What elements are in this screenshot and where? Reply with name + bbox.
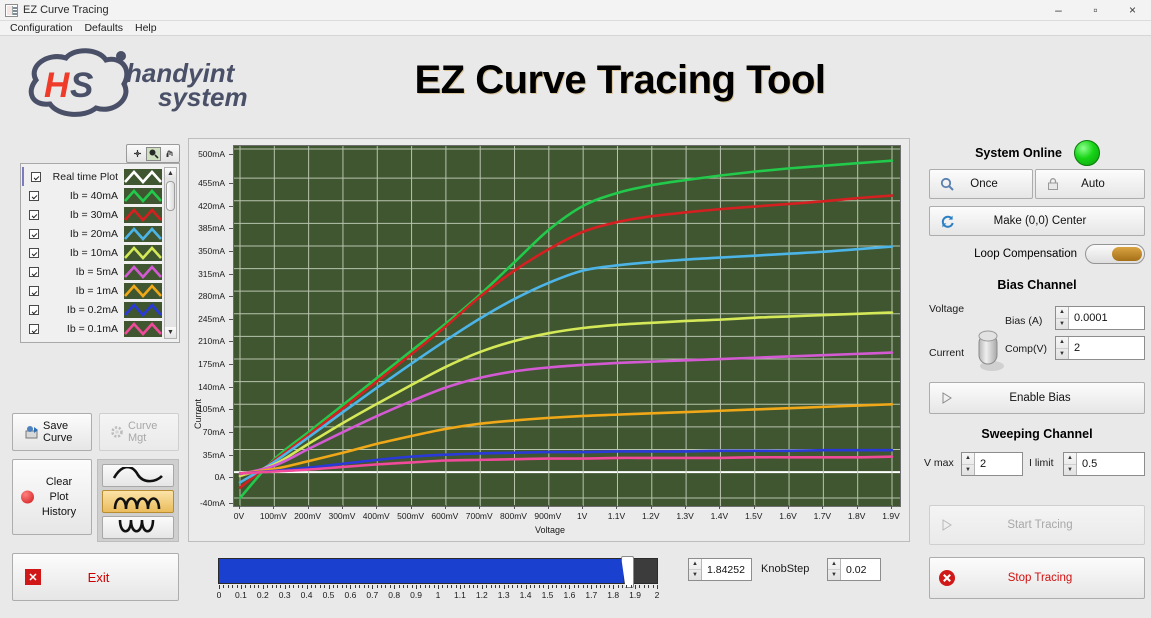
ruler-minor-tick [626,585,627,588]
curve-trace [240,247,892,483]
y-axis-tick-label: 385mA [198,223,225,233]
ruler-minor-tick [315,585,316,588]
ruler-minor-tick [267,585,268,588]
vmax-input[interactable]: ▲▼ 2 [961,452,1023,476]
loop-compensation-toggle[interactable] [1085,244,1145,264]
ruler-tick-label: 2 [655,590,660,600]
legend-color-swatch[interactable] [124,302,162,318]
ruler-major-tick [460,585,461,589]
ruler-minor-tick [342,585,343,588]
double-valley-wave-icon[interactable] [102,516,174,539]
svg-text:system: system [158,82,248,112]
ruler-minor-tick [434,585,435,588]
ruler-minor-tick [583,585,584,588]
handyint-system-logo: H S handyint system [18,44,288,120]
x-axis-tick-label: 1V [577,511,587,521]
ruler-minor-tick [618,585,619,588]
x-axis-tick-label: 1.4V [711,511,729,521]
ruler-minor-tick [574,585,575,588]
ilimit-input[interactable]: ▲▼ 0.5 [1063,452,1145,476]
plot-tools-toolbar [126,144,180,163]
ruler-major-tick [219,585,220,589]
ruler-tick-label: 1.8 [607,590,619,600]
ruler-minor-tick [469,585,470,588]
maximize-button[interactable]: ▫ [1077,0,1114,21]
x-axis-tick-label: 1.6V [779,511,797,521]
start-tracing-button[interactable]: Start Tracing [929,505,1145,545]
ruler-minor-tick [333,585,334,588]
ruler-minor-tick [359,585,360,588]
x-axis-tick-mark [719,505,720,509]
comp-value[interactable]: 2 [1069,337,1144,359]
x-axis-tick-mark [548,505,549,509]
start-tracing-label: Start Tracing [958,519,1144,531]
ruler-tick-label: 1.5 [542,590,554,600]
x-axis-tick-mark [891,505,892,509]
menubar: Configuration Defaults Help [0,21,1151,36]
save-curve-button[interactable]: Save Curve [12,413,92,451]
comp-value-input[interactable]: ▲▼ 2 [1055,336,1145,360]
x-axis-tick-label: 600mV [431,511,458,521]
x-axis-tick-label: 1.7V [814,511,832,521]
x-axis-tick-label: 200mV [294,511,321,521]
y-axis-tick-label: 455mA [198,178,225,188]
stepper-up-icon[interactable]: ▲ [1064,453,1076,465]
x-axis-tick-mark [308,505,309,509]
ruler-minor-tick [237,585,238,588]
ruler-major-tick [482,585,483,589]
ruler-minor-tick [420,585,421,588]
ruler-minor-tick [442,585,443,588]
ruler-minor-tick [407,585,408,588]
ruler-tick-label: 0.9 [410,590,422,600]
legend-color-swatch[interactable] [124,245,162,261]
stop-x-icon [936,569,958,587]
legend-color-swatch[interactable] [124,321,162,337]
ruler-minor-tick [228,585,229,588]
y-axis-tick-label: 315mA [198,269,225,279]
plot-wrapper [233,145,901,507]
legend-item[interactable]: Ib = 10mA [24,243,162,262]
clear-label: Clear [46,476,72,488]
x-axis-tick-label: 0V [234,511,244,521]
ruler-major-tick [569,585,570,589]
legend-item[interactable]: Ib = 0.1mA [24,320,162,339]
bias-value[interactable]: 0.0001 [1069,307,1144,329]
legend-scrollbar[interactable]: ▲ ▼ [164,167,177,339]
slider-value-input[interactable]: ▲▼ 1.84252 [688,558,752,581]
svg-text:H: H [44,66,70,105]
app-window-icon [5,4,18,17]
ruler-major-tick [416,585,417,589]
ruler-minor-tick [622,585,623,588]
legend-scroll-thumb[interactable] [166,181,175,211]
ruler-minor-tick [644,585,645,588]
x-axis-tick-mark [754,505,755,509]
magnifier-icon [936,177,958,192]
ruler-minor-tick [631,585,632,588]
ruler-minor-tick [653,585,654,588]
play-triangle-icon [936,392,958,404]
ruler-minor-tick [521,585,522,588]
knobstep-value[interactable]: 0.02 [841,559,880,580]
y-axis-tick-label: 175mA [198,359,225,369]
ruler-minor-tick [298,585,299,588]
ruler-minor-tick [565,585,566,588]
page-title: EZ Curve Tracing Tool [320,58,920,103]
x-axis-tick-mark [822,505,823,509]
ruler-minor-tick [276,585,277,588]
slider-value[interactable]: 1.84252 [702,559,751,580]
minimize-button[interactable]: – [1040,0,1077,21]
ruler-minor-tick [355,585,356,588]
cursor-tool-icon[interactable] [130,147,145,161]
x-axis-tick-mark [616,505,617,509]
gear-icon [106,425,128,439]
once-button[interactable]: Once [929,169,1033,199]
legend-item-label: Real time Plot [41,171,124,183]
legend-checkbox[interactable] [29,267,39,277]
ruler-major-tick [263,585,264,589]
comp-field-label: Comp(V) [1005,343,1047,355]
legend-color-swatch[interactable] [124,283,162,299]
legend-item[interactable]: Ib = 5mA [24,263,162,282]
x-axis-tick-mark [685,505,686,509]
ruler-minor-tick [272,585,273,588]
ilimit-value[interactable]: 0.5 [1077,453,1144,475]
toggle-knob [1112,247,1142,261]
ruler-minor-tick [346,585,347,588]
knobstep-stepper[interactable]: ▲▼ [828,559,841,580]
ruler-minor-tick [539,585,540,588]
curve-mgt-button[interactable]: Curve Mgt [99,413,179,451]
x-axis-tick-mark [342,505,343,509]
legend-checkbox[interactable] [29,248,39,258]
system-online-label: System Online [975,146,1062,160]
legend-scroll-up-icon[interactable]: ▲ [165,168,176,179]
x-axis-tick-mark [582,505,583,509]
ruler-minor-tick [412,585,413,588]
x-axis-tick-mark [273,505,274,509]
ruler-minor-tick [517,585,518,588]
y-axis-ticks: 500mA455mA420mA385mA350mA315mA280mA245mA… [189,145,231,507]
x-axis-tick-label: 1.1V [608,511,626,521]
ruler-minor-tick [451,585,452,588]
x-axis-tick-label: 900mV [534,511,561,521]
curve-legend-panel: Real time PlotIb = 40mAIb = 30mAIb = 20m… [20,163,180,343]
ruler-minor-tick [280,585,281,588]
ruler-minor-tick [639,585,640,588]
svg-text:S: S [70,66,93,105]
bias-value-input[interactable]: ▲▼ 0.0001 [1055,306,1145,330]
ruler-minor-tick [258,585,259,588]
ruler-minor-tick [587,585,588,588]
y-axis-tick-label: 105mA [198,404,225,414]
y-axis-tick-label: 420mA [198,201,225,211]
x-axis-tick-mark [857,505,858,509]
ruler-minor-tick [232,585,233,588]
ruler-minor-tick [390,585,391,588]
ruler-minor-tick [324,585,325,588]
ruler-minor-tick [473,585,474,588]
y-axis-tick-label: 210mA [198,336,225,346]
legend-checkbox[interactable] [29,286,39,296]
legend-checkbox[interactable] [29,191,39,201]
sine-wave-icon[interactable] [102,464,174,487]
y-axis-tick-label: -40mA [200,498,225,508]
x-axis-tick-mark [239,505,240,509]
ruler-tick-label: 1.7 [585,590,597,600]
ruler-minor-tick [604,585,605,588]
x-axis-ticks: 0V100mV200mV300mV400mV500mV600mV700mV800… [233,509,901,523]
enable-bias-button[interactable]: Enable Bias [929,382,1145,414]
ruler-tick-label: 0 [217,590,222,600]
ruler-minor-tick [456,585,457,588]
ruler-minor-tick [561,585,562,588]
x-axis-tick-label: 1.3V [676,511,694,521]
legend-checkbox[interactable] [31,172,41,182]
legend-item-label: Ib = 1mA [39,285,124,297]
stepper-down-icon[interactable]: ▼ [828,570,840,580]
legend-item-label: Ib = 20mA [39,228,124,240]
history-label: History [42,506,76,518]
curve-series-group [240,161,892,498]
legend-checkbox[interactable] [29,324,39,334]
legend-checkbox[interactable] [29,210,39,220]
curve-traces [234,146,900,506]
ruler-minor-tick [425,585,426,588]
x-axis-tick-mark [411,505,412,509]
ruler-minor-tick [600,585,601,588]
ruler-minor-tick [477,585,478,588]
ruler-tick-label: 0.6 [344,590,356,600]
curve-trace [240,196,892,488]
legend-item[interactable]: Ib = 30mA [24,205,162,224]
ruler-tick-label: 1.4 [520,590,532,600]
menu-configuration[interactable]: Configuration [4,21,78,36]
ruler-minor-tick [556,585,557,588]
ruler-minor-tick [499,585,500,588]
menu-defaults[interactable]: Defaults [78,21,129,36]
x-axis-tick-mark [651,505,652,509]
legend-item-label: Ib = 0.2mA [39,304,124,316]
ruler-minor-tick [429,585,430,588]
knobstep-label: KnobStep [761,563,809,575]
ruler-minor-tick [254,585,255,588]
ruler-tick-label: 1.9 [629,590,641,600]
x-axis-tick-label: 100mV [260,511,287,521]
ruler-minor-tick [368,585,369,588]
stop-tracing-button[interactable]: Stop Tracing [929,557,1145,599]
ruler-minor-tick [293,585,294,588]
stepper-down-icon[interactable]: ▼ [1064,465,1076,476]
stepper-up-icon[interactable]: ▲ [828,559,840,570]
double-hump-wave-icon[interactable] [102,490,174,513]
stop-tracing-label: Stop Tracing [958,572,1144,584]
stepper-down-icon[interactable]: ▼ [689,570,701,580]
ruler-major-tick [285,585,286,589]
waveform-selector-group [97,459,179,542]
ruler-minor-tick [464,585,465,588]
ruler-minor-tick [491,585,492,588]
legend-item-label: Ib = 10mA [39,247,124,259]
legend-item[interactable]: Ib = 1mA [24,282,162,301]
curve-mgt-label: Curve Mgt [128,420,178,444]
ruler-minor-tick [530,585,531,588]
legend-item-label: Ib = 40mA [39,190,124,202]
y-axis-tick-label: 70mA [203,427,225,437]
play-triangle-icon [936,519,958,531]
vmax-stepper[interactable]: ▲▼ [962,453,975,475]
bias-stepper[interactable]: ▲▼ [1056,307,1069,329]
legend-rows: Real time PlotIb = 40mAIb = 30mAIb = 20m… [24,167,162,339]
vmax-label: V max [924,457,954,469]
legend-item-label: Ib = 0.1mA [39,323,124,335]
ruler-minor-tick [486,585,487,588]
ruler-minor-tick [385,585,386,588]
status-led-icon [1074,140,1100,166]
y-axis-tick-label: 35mA [203,450,225,460]
legend-item-label: Ib = 30mA [39,209,124,221]
legend-color-swatch[interactable] [124,207,162,223]
x-axis-tick-label: 1.2V [642,511,660,521]
bias-channel-heading: Bias Channel [929,278,1145,292]
comp-stepper[interactable]: ▲▼ [1056,337,1069,359]
ruler-minor-tick [302,585,303,588]
ruler-major-tick [438,585,439,589]
y-axis-tick-label: 500mA [198,149,225,159]
legend-color-swatch[interactable] [124,169,162,185]
exit-button[interactable]: ✕ Exit [12,553,179,601]
stepper-up-icon[interactable]: ▲ [1056,307,1068,319]
ruler-minor-tick [337,585,338,588]
zoom-tool-icon[interactable] [146,147,161,161]
loop-compensation-label: Loop Compensation [974,248,1077,260]
stepper-down-icon[interactable]: ▼ [1056,349,1068,360]
ruler-major-tick [394,585,395,589]
ruler-tick-label: 0.5 [323,590,335,600]
x-axis-label: Voltage [189,525,911,535]
ruler-minor-tick [320,585,321,588]
system-online-status: System Online [930,140,1145,166]
ruler-tick-label: 1 [436,590,441,600]
stepper-down-icon[interactable]: ▼ [1056,319,1068,330]
legend-color-swatch[interactable] [124,226,162,242]
close-x-icon: ✕ [25,569,41,585]
legend-item[interactable]: Ib = 0.2mA [24,301,162,320]
legend-item[interactable]: Ib = 40mA [24,186,162,205]
ruler-minor-tick [289,585,290,588]
voltage-current-switch[interactable] [973,326,1007,374]
make-center-label: Make (0,0) Center [958,215,1144,227]
ruler-minor-tick [508,585,509,588]
ruler-major-tick [329,585,330,589]
voltage-slider[interactable] [218,558,658,584]
legend-checkbox[interactable] [29,305,39,315]
close-button[interactable]: × [1114,0,1151,21]
menu-help[interactable]: Help [129,21,163,36]
ruler-major-tick [591,585,592,589]
bias-field-label: Bias (A) [1005,315,1042,327]
plot-panel: Current 500mA455mA420mA385mA350mA315mA28… [188,138,910,542]
ruler-minor-tick [596,585,597,588]
pan-tool-icon[interactable] [162,147,177,161]
ruler-major-tick [350,585,351,589]
ruler-minor-tick [512,585,513,588]
x-axis-tick-label: 300mV [328,511,355,521]
slider-value-stepper[interactable]: ▲▼ [689,559,702,580]
make-center-button[interactable]: Make (0,0) Center [929,206,1145,236]
x-axis-tick-label: 800mV [500,511,527,521]
y-axis-tick-label: 140mA [198,382,225,392]
ruler-major-tick [548,585,549,589]
loop-compensation-row: Loop Compensation [929,243,1145,265]
ilimit-label: I limit [1029,457,1054,469]
knobstep-input[interactable]: ▲▼ 0.02 [827,558,881,581]
current-mode-label: Current [929,347,964,359]
enable-bias-label: Enable Bias [958,392,1144,404]
x-axis-tick-label: 1.9V [882,511,900,521]
ruler-tick-label: 1.3 [498,590,510,600]
legend-item-label: Ib = 5mA [39,266,124,278]
legend-item[interactable]: Ib = 20mA [24,224,162,243]
ruler-minor-tick [543,585,544,588]
x-axis-tick-mark [445,505,446,509]
auto-button[interactable]: Auto [1035,169,1145,199]
ruler-major-tick [307,585,308,589]
ruler-major-tick [635,585,636,589]
ruler-minor-tick [609,585,610,588]
plot-area[interactable] [233,145,901,507]
ruler-tick-label: 0.3 [279,590,291,600]
y-axis-tick-label: 280mA [198,291,225,301]
y-axis-tick-label: 0A [215,472,225,482]
x-axis-tick-mark [479,505,480,509]
clear-plot-history-button[interactable]: Clear Plot History [12,459,92,535]
ruler-minor-tick [552,585,553,588]
y-axis-tick-label: 245mA [198,314,225,324]
ruler-minor-tick [578,585,579,588]
legend-scroll-down-icon[interactable]: ▼ [165,327,176,338]
legend-item[interactable]: Real time Plot [22,167,162,186]
legend-color-swatch[interactable] [124,188,162,204]
stepper-up-icon[interactable]: ▲ [1056,337,1068,349]
x-axis-tick-label: 1.8V [848,511,866,521]
legend-color-swatch[interactable] [124,264,162,280]
x-axis-tick-mark [788,505,789,509]
plot-label: Plot [50,491,69,503]
stepper-up-icon[interactable]: ▲ [689,559,701,570]
voltage-mode-label: Voltage [929,303,964,315]
ruler-minor-tick [364,585,365,588]
slider-fill [219,559,623,583]
stepper-up-icon[interactable]: ▲ [962,453,974,465]
ruler-minor-tick [381,585,382,588]
slider-ruler: 00.10.20.30.40.50.60.70.80.911.11.21.31.… [218,585,658,603]
ruler-major-tick [657,585,658,589]
red-dot-icon [21,491,34,504]
legend-checkbox[interactable] [29,229,39,239]
stepper-down-icon[interactable]: ▼ [962,465,974,476]
ruler-minor-tick [245,585,246,588]
ruler-tick-label: 1.1 [454,590,466,600]
ruler-minor-tick [648,585,649,588]
ilimit-stepper[interactable]: ▲▼ [1064,453,1077,475]
ruler-minor-tick [377,585,378,588]
ruler-major-tick [241,585,242,589]
ruler-tick-label: 1.2 [476,590,488,600]
vmax-value[interactable]: 2 [975,453,1022,475]
